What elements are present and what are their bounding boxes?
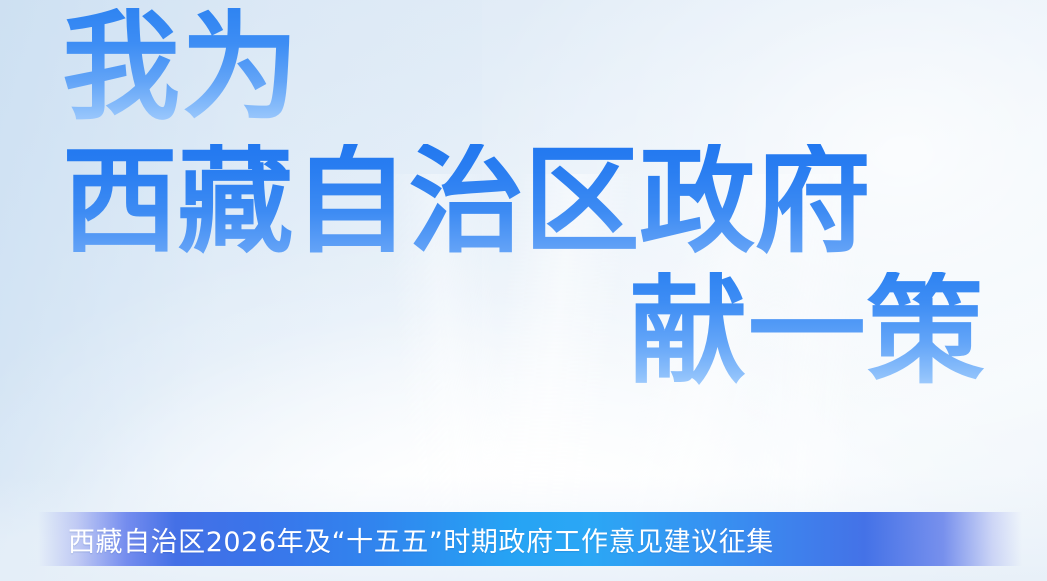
campaign-poster: 我为 西藏自治区政府 献一策 西藏自治区2026年及“十五五”时期政府工作意见建… <box>0 0 1047 581</box>
headline-block: 我为 西藏自治区政府 献一策 <box>0 0 1047 470</box>
headline-line-1: 我为 <box>62 8 300 126</box>
subtitle-banner: 西藏自治区2026年及“十五五”时期政府工作意见建议征集 <box>38 512 1022 566</box>
headline-line-2: 西藏自治区政府 <box>62 144 870 260</box>
headline-line-3: 献一策 <box>629 272 985 390</box>
subtitle-banner-text: 西藏自治区2026年及“十五五”时期政府工作意见建议征集 <box>68 520 774 559</box>
